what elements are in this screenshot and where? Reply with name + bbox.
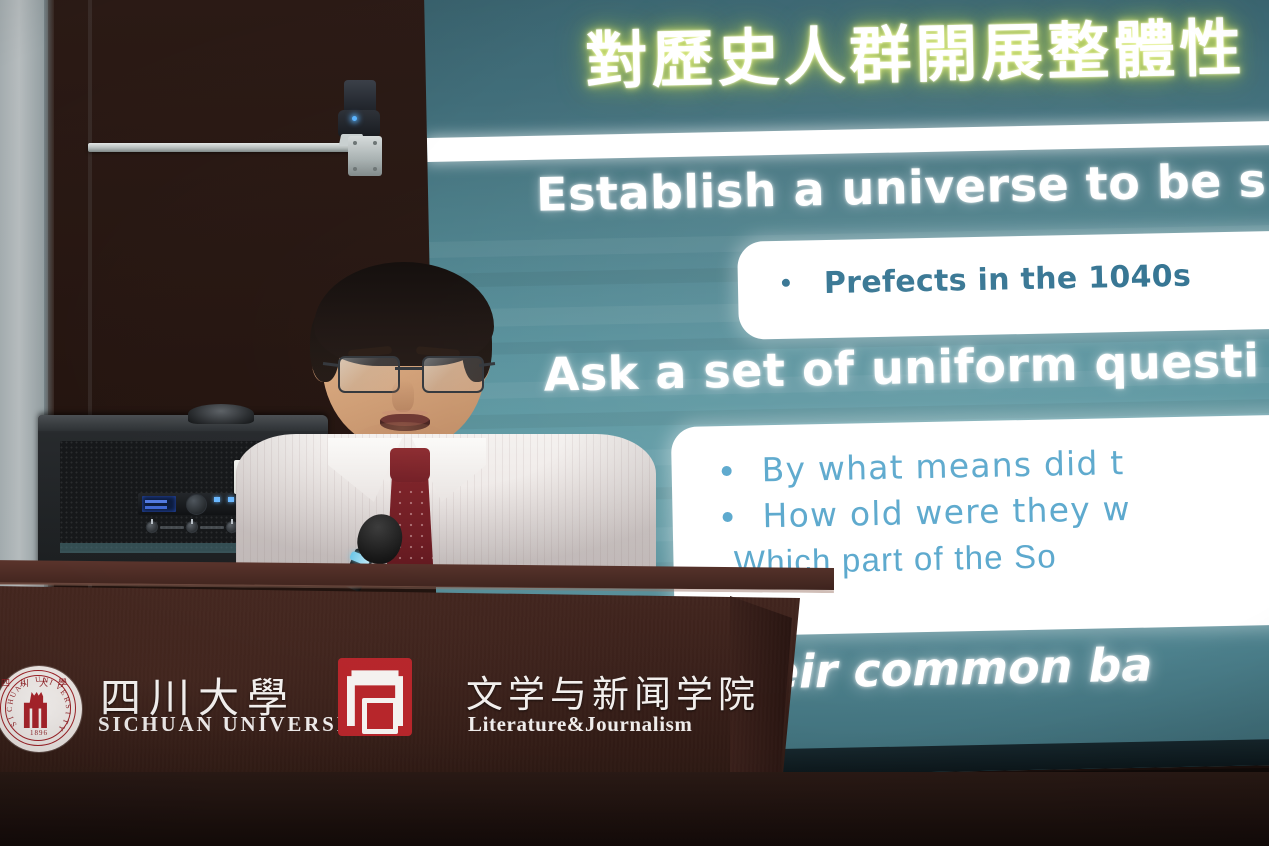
callout1-bullet-line: Prefects in the 1040s	[782, 259, 1192, 302]
speaker-person	[246, 262, 646, 572]
slide-heading-1: Establish a universe to be s	[536, 153, 1267, 222]
rack-channel-knob-2[interactable]	[186, 521, 198, 533]
callout2-bullet-line-1: By what means did t	[721, 440, 1130, 494]
camera-wall-bracket	[348, 136, 382, 176]
seal-ring-text: SICHUAN UNIVERSITY	[0, 666, 82, 752]
stage-floor	[0, 772, 1269, 846]
callout1-bullet-text: Prefects in the 1040s	[824, 259, 1192, 301]
sichuan-university-seal-icon: 四川大學 1896 SICHUAN UNIVERSITY	[0, 666, 82, 752]
slide-title-cjk: 對歷史人群開展整體性	[584, 0, 1246, 101]
amplifier-led-2	[228, 497, 234, 502]
bullet-dot-icon	[782, 279, 790, 287]
callout2-text-1: By what means did t	[761, 440, 1125, 493]
slide-heading-2: Ask a set of uniform questi	[543, 333, 1260, 401]
amplifier-led-1	[214, 497, 220, 502]
amplifier-lcd-display	[142, 496, 176, 512]
hair	[314, 262, 494, 366]
slide-callout-box-1: Prefects in the 1040s	[737, 229, 1269, 339]
rack-top-dome	[188, 404, 254, 424]
college-stamp-icon	[338, 658, 412, 736]
college-name-cjk: 文学与新闻学院	[466, 664, 760, 718]
college-stamp-inner-square	[362, 698, 398, 734]
necktie-knot	[390, 448, 430, 482]
rack-channel-knob-1[interactable]	[146, 521, 158, 533]
bullet-dot-icon	[722, 512, 732, 522]
camera-led-indicator	[352, 116, 357, 121]
glasses-bridge	[395, 367, 423, 370]
rack-knob-label-1	[160, 526, 184, 529]
callout2-bullet-line-2: How old were they w	[722, 486, 1131, 540]
nose	[392, 380, 414, 412]
glasses-lens-left	[338, 356, 400, 393]
glasses-lens-right	[422, 356, 484, 393]
amplifier-volume-knob[interactable]	[186, 494, 207, 515]
bullet-dot-icon	[722, 466, 732, 476]
ceiling-mount-rail	[88, 143, 350, 152]
lecture-photo-scene: 對歷史人群開展整體性 Establish a universe to be s …	[0, 0, 1269, 846]
callout2-text-2: How old were they w	[762, 486, 1131, 539]
rack-knob-label-2	[200, 526, 224, 529]
college-name-en: Literature&Journalism	[468, 712, 693, 737]
